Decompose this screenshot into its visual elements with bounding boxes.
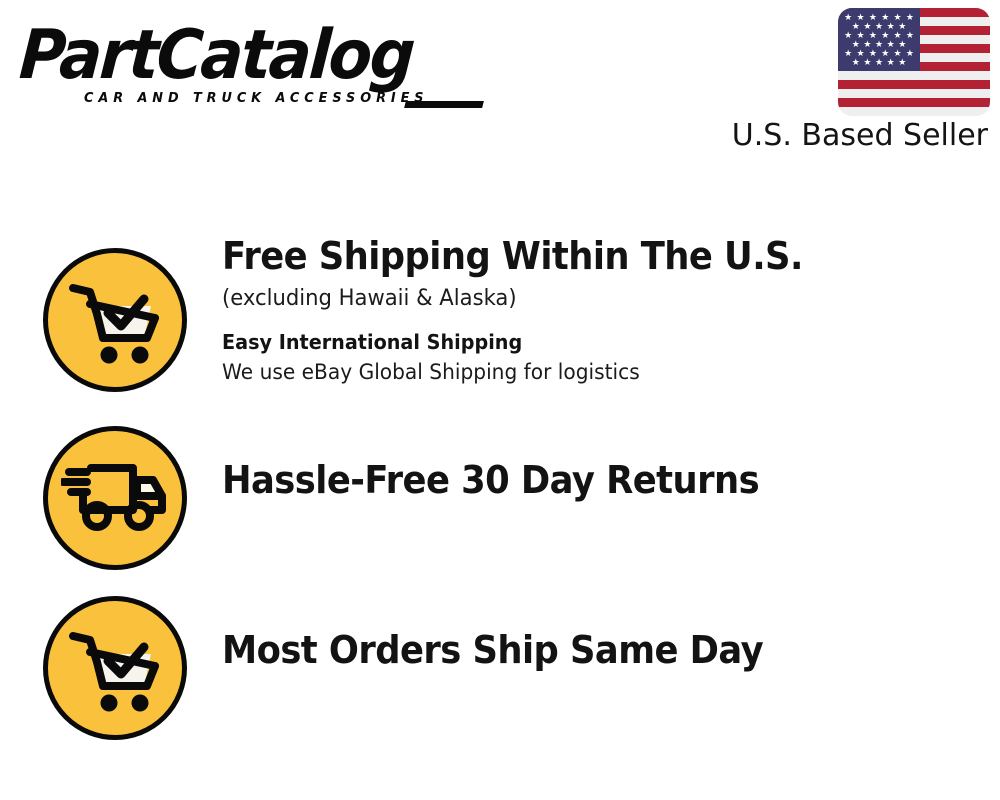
feature-row-returns: Hassle-Free 30 Day Returns (0, 418, 1000, 588)
us-based-seller-label: U.S. Based Seller (732, 118, 988, 154)
brand-wordmark: PartCatalog (17, 20, 459, 92)
flag-star-row: ★★★★★★ (838, 13, 920, 21)
shopping-cart-check-icon (43, 248, 187, 392)
feature-row-free-shipping: Free Shipping Within The U.S. (excluding… (0, 234, 1000, 410)
flag-stripe (838, 98, 990, 107)
flag-stripe (838, 107, 990, 116)
feature-headline: Most Orders Ship Same Day (222, 628, 927, 672)
feature-subhead-note: We use eBay Global Shipping for logistic… (222, 358, 950, 386)
shopping-cart-check-icon (43, 596, 187, 740)
feature-text-block: Hassle-Free 30 Day Returns (222, 458, 980, 502)
feature-subhead: Easy International Shipping (222, 328, 950, 356)
flag-stripe (838, 89, 990, 98)
promo-banner: PartCatalog CAR AND TRUCK ACCESSORIES ★★… (0, 0, 1000, 800)
feature-headline: Hassle-Free 30 Day Returns (222, 458, 927, 502)
delivery-truck-icon (43, 426, 187, 570)
feature-row-same-day-ship: Most Orders Ship Same Day (0, 588, 1000, 758)
flag-canton: ★★★★★★ ★★★★★ ★★★★★★ ★★★★★ ★★★★★★ ★★★★★ (838, 8, 920, 71)
feature-text-block: Free Shipping Within The U.S. (excluding… (222, 234, 980, 386)
flag-star-row: ★★★★★ (838, 40, 920, 48)
flag-star-row: ★★★★★ (838, 58, 920, 66)
feature-subline: (excluding Hawaii & Alaska) (222, 284, 950, 314)
feature-text-block: Most Orders Ship Same Day (222, 628, 980, 672)
flag-stripe (838, 80, 990, 89)
brand-underline-accent (404, 101, 484, 108)
feature-headline: Free Shipping Within The U.S. (222, 234, 927, 278)
us-flag-icon: ★★★★★★ ★★★★★ ★★★★★★ ★★★★★ ★★★★★★ ★★★★★ (838, 8, 990, 116)
flag-star-row: ★★★★★★ (838, 31, 920, 39)
flag-star-row: ★★★★★★ (838, 49, 920, 57)
us-flag-badge: ★★★★★★ ★★★★★ ★★★★★★ ★★★★★ ★★★★★★ ★★★★★ (838, 8, 990, 116)
flag-star-row: ★★★★★ (838, 22, 920, 30)
flag-stripe (838, 71, 990, 80)
